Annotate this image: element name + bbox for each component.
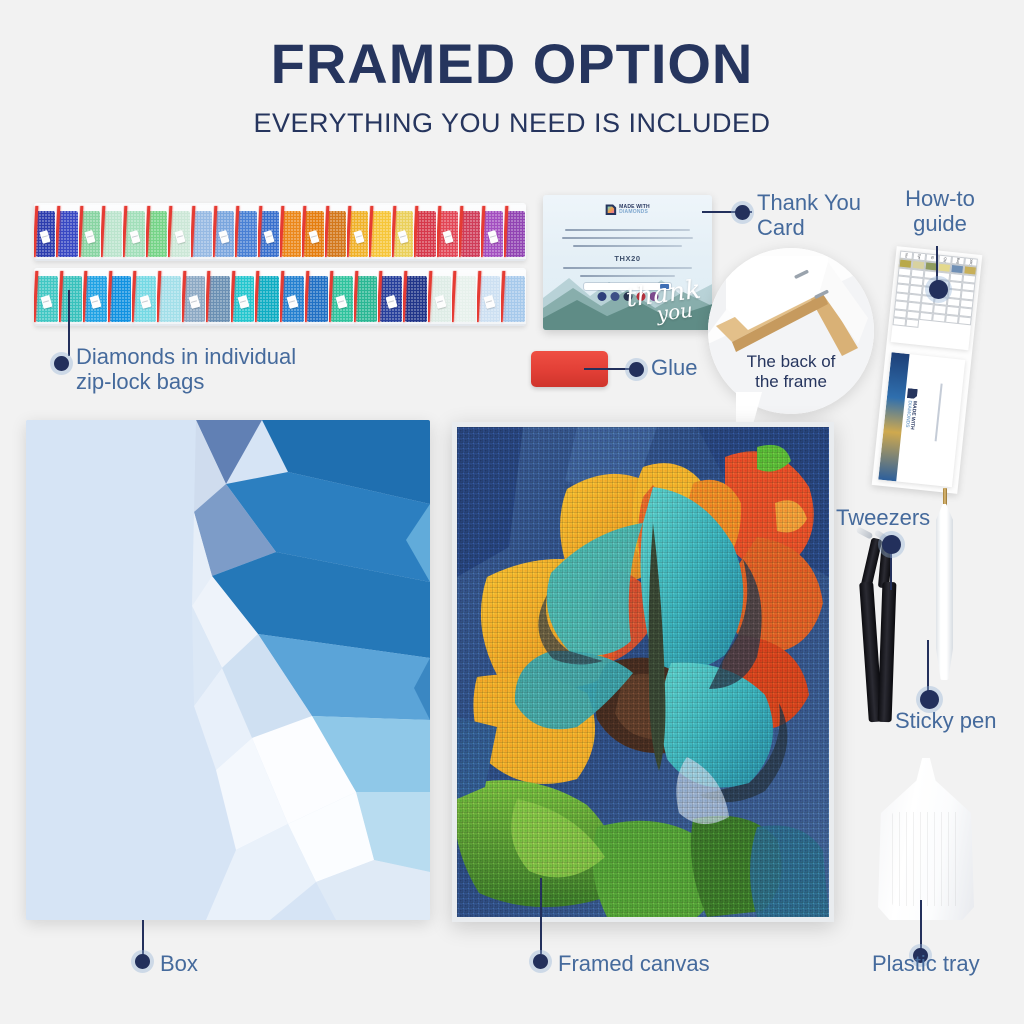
how-to-guide: No. Sym ID Qty Bag DMC [872,246,983,494]
bead-fill [461,211,481,257]
zip-lock-bag [123,205,146,258]
zip-lock-bag [182,270,208,323]
bead-fill [237,211,257,257]
table-cell [919,311,933,321]
zip-lock-bag [369,205,392,258]
card-thankyou-script: thank you [625,280,704,327]
zip-lock-bag [428,270,454,323]
glue-callout-label: Glue [651,355,697,380]
canvas-artwork [457,427,829,917]
tweezers-callout-label: Tweezers [836,505,930,530]
zip-lock-bag [302,205,325,258]
zip-lock-bag [452,270,478,323]
bead-fill [148,211,168,257]
card-text-line [580,275,675,277]
card-text-line [565,229,690,231]
bead-fill [416,211,436,257]
tweezers-callout-line [890,552,892,590]
zip-lock-bag [191,205,214,258]
bead-fill [208,276,230,322]
card-text-line [573,245,681,247]
zip-lock-bag-row-bottom [34,268,526,326]
card-brand-wordmark: MADE WITH DIAMONDS [619,205,650,216]
zip-lock-bag [132,270,158,323]
zip-lock-bag [235,205,258,258]
canvas-callout-dot [533,954,548,969]
card-text-line [563,267,691,269]
table-cell [945,314,959,324]
tray-callout-label: Plastic tray [872,951,980,976]
page-title: FRAMED OPTION [0,36,1024,92]
box-callout-line [142,920,144,955]
guide-card-wordmark: MADE WITH DIAMONDS [903,400,916,430]
diamonds-callout-line-v [68,290,70,356]
bubble-text: The back of the frame [721,352,860,393]
zip-lock-bag-row-top [34,203,526,261]
bead-fill [159,276,181,322]
zip-lock-bag [101,205,124,258]
zip-lock-bag [504,205,526,258]
zip-lock-bag [392,205,415,258]
page-subtitle: EVERYTHING YOU NEED IS INCLUDED [0,108,1024,139]
bead-fill [61,276,83,322]
bead-fill [371,211,391,257]
glue-callout-dot [629,362,644,377]
zip-lock-bag [34,205,57,258]
diamond-mark-icon [605,204,616,215]
zip-lock-bag [501,270,526,323]
bead-fill [454,276,476,322]
zip-lock-bag [108,270,134,323]
bead-fill [192,211,212,257]
table-cell [905,318,919,328]
diamonds-callout-dot [54,356,69,371]
bead-fill [110,276,132,322]
zip-lock-bag [305,270,331,323]
box-callout-label: Box [160,951,198,976]
thankyou-callout-dot [735,205,750,220]
zip-lock-bag [83,270,109,323]
diamond-grid-overlay [457,427,829,917]
tray-ribs [892,812,960,906]
card-brand-bottom: DIAMONDS [619,210,650,215]
zip-lock-bag [213,205,236,258]
bead-fill [405,276,427,322]
guide-card-rule [935,384,943,442]
bead-fill [505,211,525,257]
zip-lock-bag [56,205,79,258]
bead-fill [282,211,302,257]
tweezers [852,530,910,722]
zip-lock-bag [414,205,437,258]
bead-fill [58,211,78,257]
zip-lock-bag [258,205,281,258]
instagram-icon [610,292,619,301]
howto-callout-dot [929,280,948,299]
bead-fill [257,276,279,322]
zip-lock-bag [403,270,429,323]
table-cell [958,316,972,326]
glue-callout-line [584,368,632,370]
tweezers-callout-dot [882,535,901,554]
zip-lock-bag [437,205,460,258]
zip-lock-bag [477,270,503,323]
product-box: MADEWITH DIAMONDS [26,420,430,920]
tray-callout-line [920,900,922,950]
zip-lock-bag [354,270,380,323]
infographic-root: FRAMED OPTION EVERYTHING YOU NEED IS INC… [0,0,1024,1024]
zip-lock-bag [255,270,281,323]
zip-lock-bag [481,205,504,258]
bead-fill [307,276,329,322]
canvas-callout-label: Framed canvas [558,951,710,976]
zip-lock-bag [168,205,191,258]
howto-callout-label: How-to guide [890,186,990,237]
bead-fill [503,276,525,322]
back-of-frame-bubble: The back of the frame [708,248,874,414]
stickypen-callout-line [927,640,929,692]
zip-lock-bag [378,270,404,323]
zip-lock-bag [329,270,355,323]
guide-card-logo: MADE WITH DIAMONDS [903,388,918,430]
card-brand-logo: MADE WITH DIAMONDS [605,204,650,215]
guide-color-chart-table: No. Sym ID Qty Bag DMC [891,251,978,351]
guide-brand-card: MADE WITH DIAMONDS [878,352,965,487]
zip-lock-bag [347,205,370,258]
table-cell [892,317,906,327]
stickypen-callout-label: Sticky pen [895,708,997,733]
sticky-pen-tip-icon [943,488,947,506]
tweezer-body-right [878,582,897,722]
canvas-callout-line [540,878,542,954]
thankyou-callout-label: Thank You Card [757,190,861,241]
box-lowpoly-graphic [26,420,430,920]
card-text-line [562,237,694,239]
bead-fill [356,276,378,322]
zip-lock-bag [280,270,306,323]
bead-fill [327,211,347,257]
zip-lock-bag [157,270,183,323]
bead-fill [103,211,123,257]
diamonds-callout-label: Diamonds in individual zip-lock bags [76,344,296,395]
zip-lock-bag [325,205,348,258]
zip-lock-bag [59,270,85,323]
diamond-mark-icon [907,388,918,399]
zip-lock-bag [231,270,257,323]
zip-lock-bag [280,205,303,258]
framed-canvas [452,422,834,922]
table-cell [932,313,946,323]
card-promo-code: THX20 [543,254,712,263]
zip-lock-bag [34,270,60,323]
facebook-icon [597,292,606,301]
zip-lock-bag [206,270,232,323]
zip-lock-bag [459,205,482,258]
sticky-pen [936,504,953,680]
box-callout-dot [135,954,150,969]
stickypen-callout-dot [920,690,939,709]
howto-callout-line [936,246,938,284]
zip-lock-bag [146,205,169,258]
zip-lock-bag [79,205,102,258]
thank-you-card: MADE WITH DIAMONDS THX20 thank you [543,195,712,330]
